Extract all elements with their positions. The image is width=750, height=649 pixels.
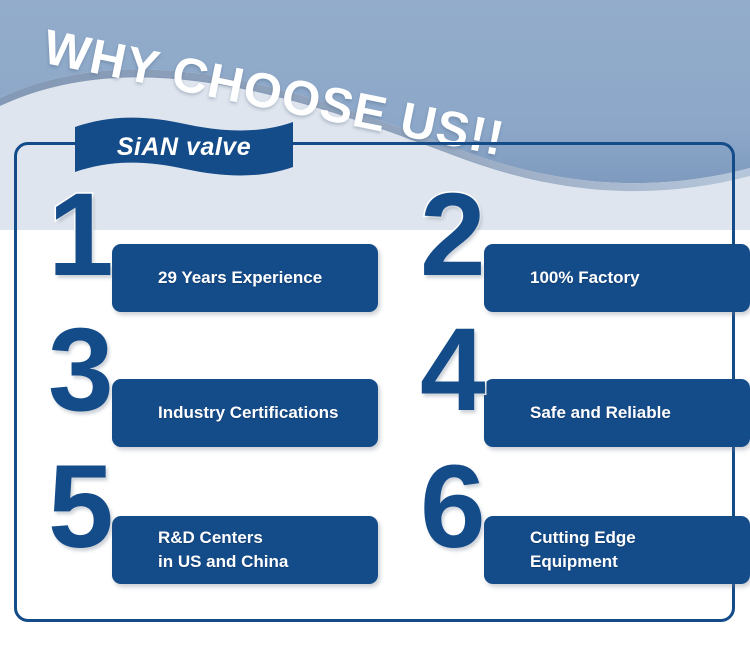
feature-item-3: 3 Industry Certifications <box>48 320 378 436</box>
feature-number-5: 5 <box>48 451 158 569</box>
feature-item-5: 5 R&D Centers in US and China <box>48 457 378 573</box>
feature-number-1: 1 <box>48 179 158 297</box>
feature-item-2: 2 100% Factory <box>420 185 750 301</box>
feature-number-6: 6 <box>420 451 530 569</box>
feature-number-3: 3 <box>48 314 158 432</box>
why-choose-us-poster: WHY CHOOSE US!! SiAN valve 1 29 Years Ex… <box>0 0 750 649</box>
feature-item-6: 6 Cutting Edge Equipment <box>420 457 750 573</box>
feature-number-4: 4 <box>420 314 530 432</box>
feature-number-2: 2 <box>420 179 530 297</box>
feature-item-1: 1 29 Years Experience <box>48 185 378 301</box>
feature-item-4: 4 Safe and Reliable <box>420 320 750 436</box>
feature-list: 1 29 Years Experience 2 100% Factory 3 I… <box>0 185 750 605</box>
